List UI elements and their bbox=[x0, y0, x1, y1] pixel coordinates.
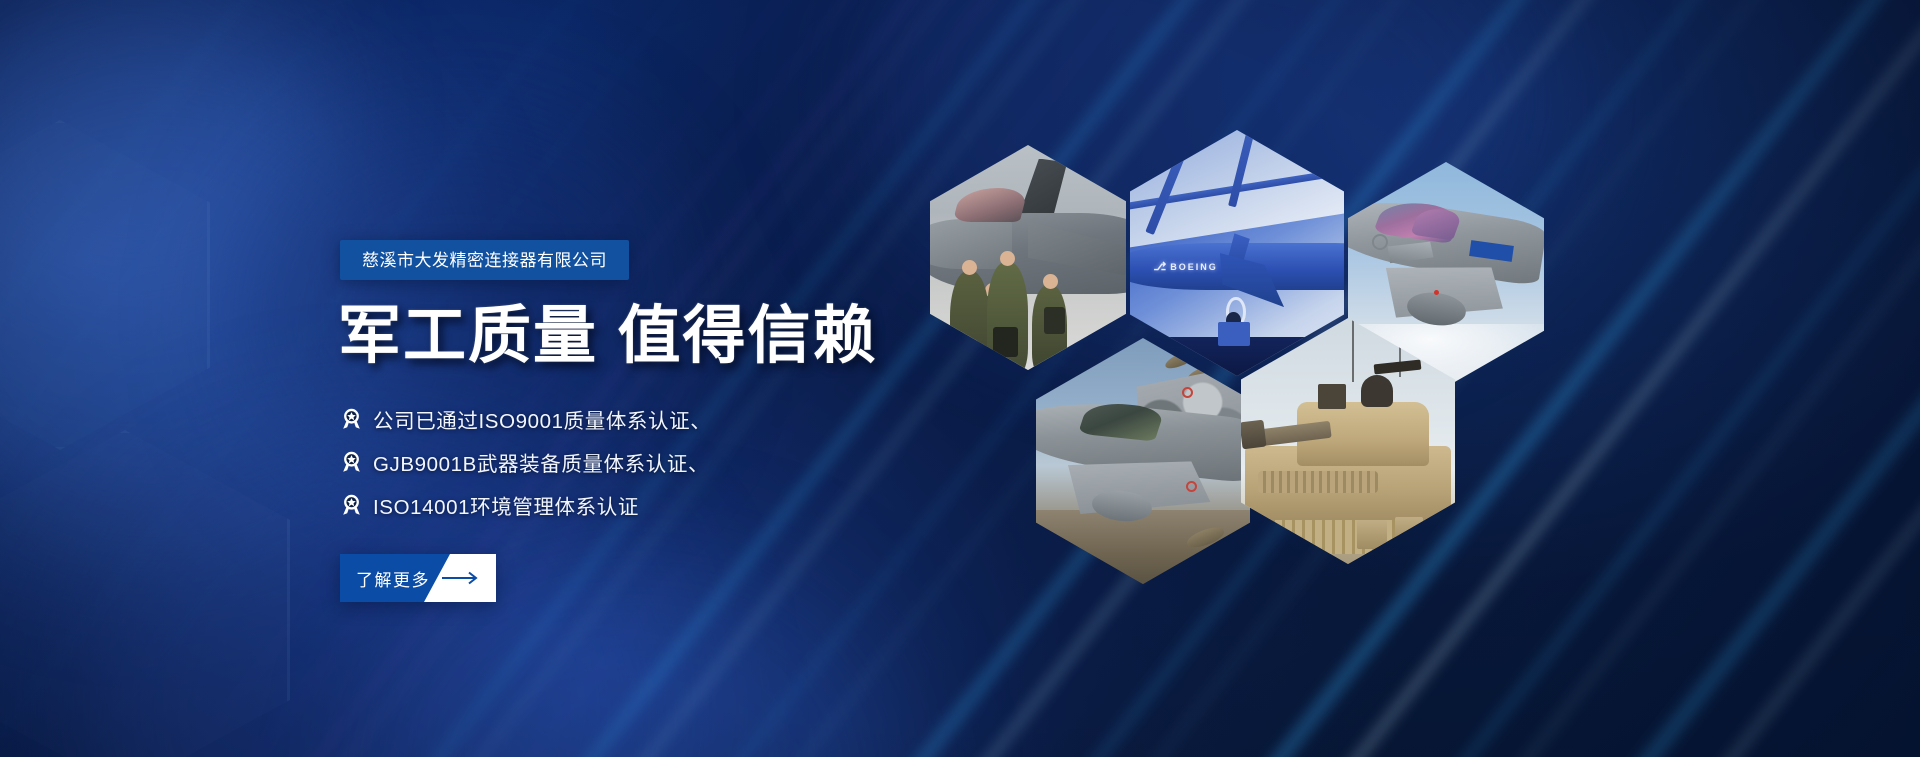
list-item-label: 公司已通过ISO9001质量体系认证、 bbox=[373, 404, 711, 434]
arrow-right-icon bbox=[442, 554, 482, 602]
medal-icon bbox=[342, 408, 361, 430]
hero-banner: ⎇BOEING bbox=[0, 0, 1920, 757]
list-item: 公司已通过ISO9001质量体系认证、 bbox=[342, 404, 711, 434]
medal-icon bbox=[342, 494, 361, 516]
learn-more-label: 了解更多 bbox=[356, 554, 430, 602]
hero-content: 慈溪市大发精密连接器有限公司 军工质量 值得信赖 公司已通过ISO9001质量体… bbox=[340, 0, 1060, 757]
hex-camo-jet bbox=[1036, 338, 1250, 584]
page-title: 军工质量 值得信赖 bbox=[338, 300, 878, 372]
list-item: ISO14001环境管理体系认证 bbox=[342, 490, 711, 520]
learn-more-button[interactable]: 了解更多 bbox=[340, 554, 496, 602]
certification-list: 公司已通过ISO9001质量体系认证、 GJB9001B武器装备质量体系认证、 bbox=[342, 404, 711, 533]
company-name-badge: 慈溪市大发精密连接器有限公司 bbox=[340, 240, 629, 280]
list-item-label: GJB9001B武器装备质量体系认证、 bbox=[373, 447, 709, 477]
list-item: GJB9001B武器装备质量体系认证、 bbox=[342, 447, 711, 477]
list-item-label: ISO14001环境管理体系认证 bbox=[373, 490, 639, 520]
medal-icon bbox=[342, 451, 361, 473]
